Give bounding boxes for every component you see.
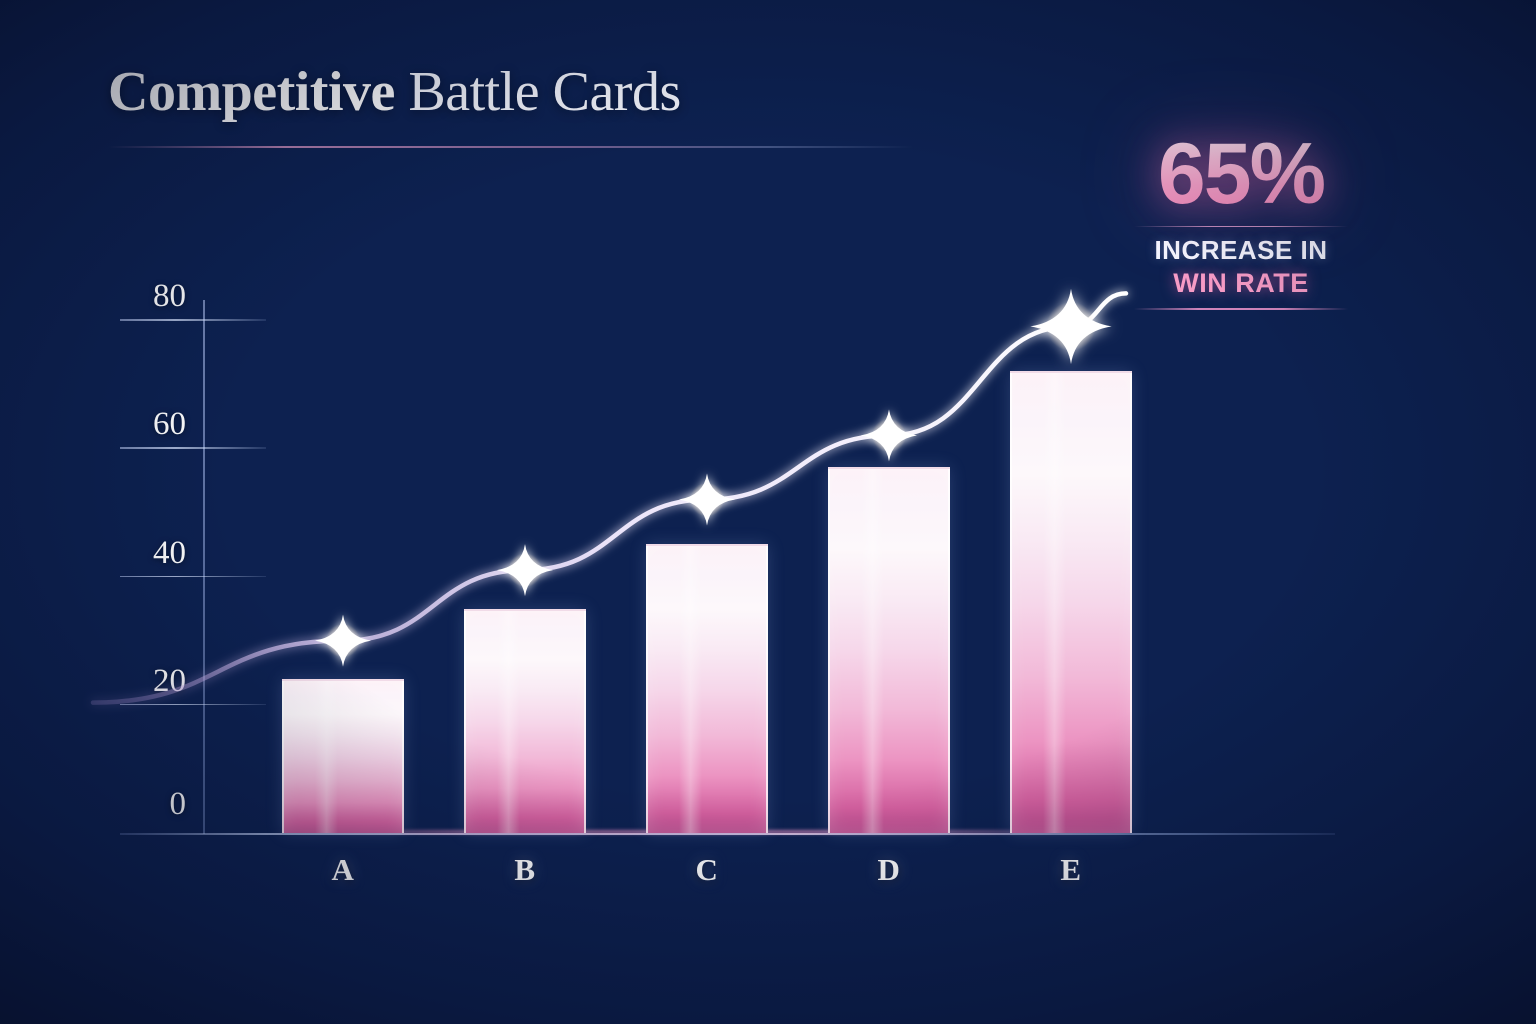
y-axis-tick-label: 80 <box>126 278 186 315</box>
x-axis-tick-label-b: B <box>464 852 586 888</box>
bar-c[interactable] <box>646 544 768 833</box>
y-axis-tick-label: 40 <box>126 535 186 572</box>
gridline <box>120 704 266 706</box>
trend-marker-a[interactable] <box>315 615 371 667</box>
gridline <box>120 447 266 449</box>
trend-line-layer <box>0 0 1536 1024</box>
x-axis-tick-label-c: C <box>646 852 768 888</box>
trend-marker-d[interactable] <box>861 409 917 461</box>
trend-marker-b[interactable] <box>497 544 553 596</box>
trend-line <box>93 293 1126 702</box>
x-axis-tick-label-e: E <box>1010 852 1132 888</box>
bar-e[interactable] <box>1010 371 1132 833</box>
x-axis-tick-label-d: D <box>828 852 950 888</box>
plot-area: 020406080 ABCDE <box>0 0 1536 1024</box>
trend-marker-c[interactable] <box>679 474 735 526</box>
gridline <box>120 576 266 578</box>
x-axis-tick-label-a: A <box>282 852 404 888</box>
y-axis-tick-label: 0 <box>126 786 186 823</box>
bar-b[interactable] <box>464 609 586 833</box>
y-axis-tick-label: 60 <box>126 406 186 443</box>
bar-d[interactable] <box>828 467 950 833</box>
chart-canvas: Competitive Battle Cards 65% INCREASE IN… <box>0 0 1536 1024</box>
y-axis-line <box>203 300 205 834</box>
bar-a[interactable] <box>282 679 404 833</box>
y-axis-tick-label: 20 <box>126 663 186 700</box>
trend-marker-e[interactable] <box>1030 289 1111 364</box>
gridline <box>120 319 266 321</box>
